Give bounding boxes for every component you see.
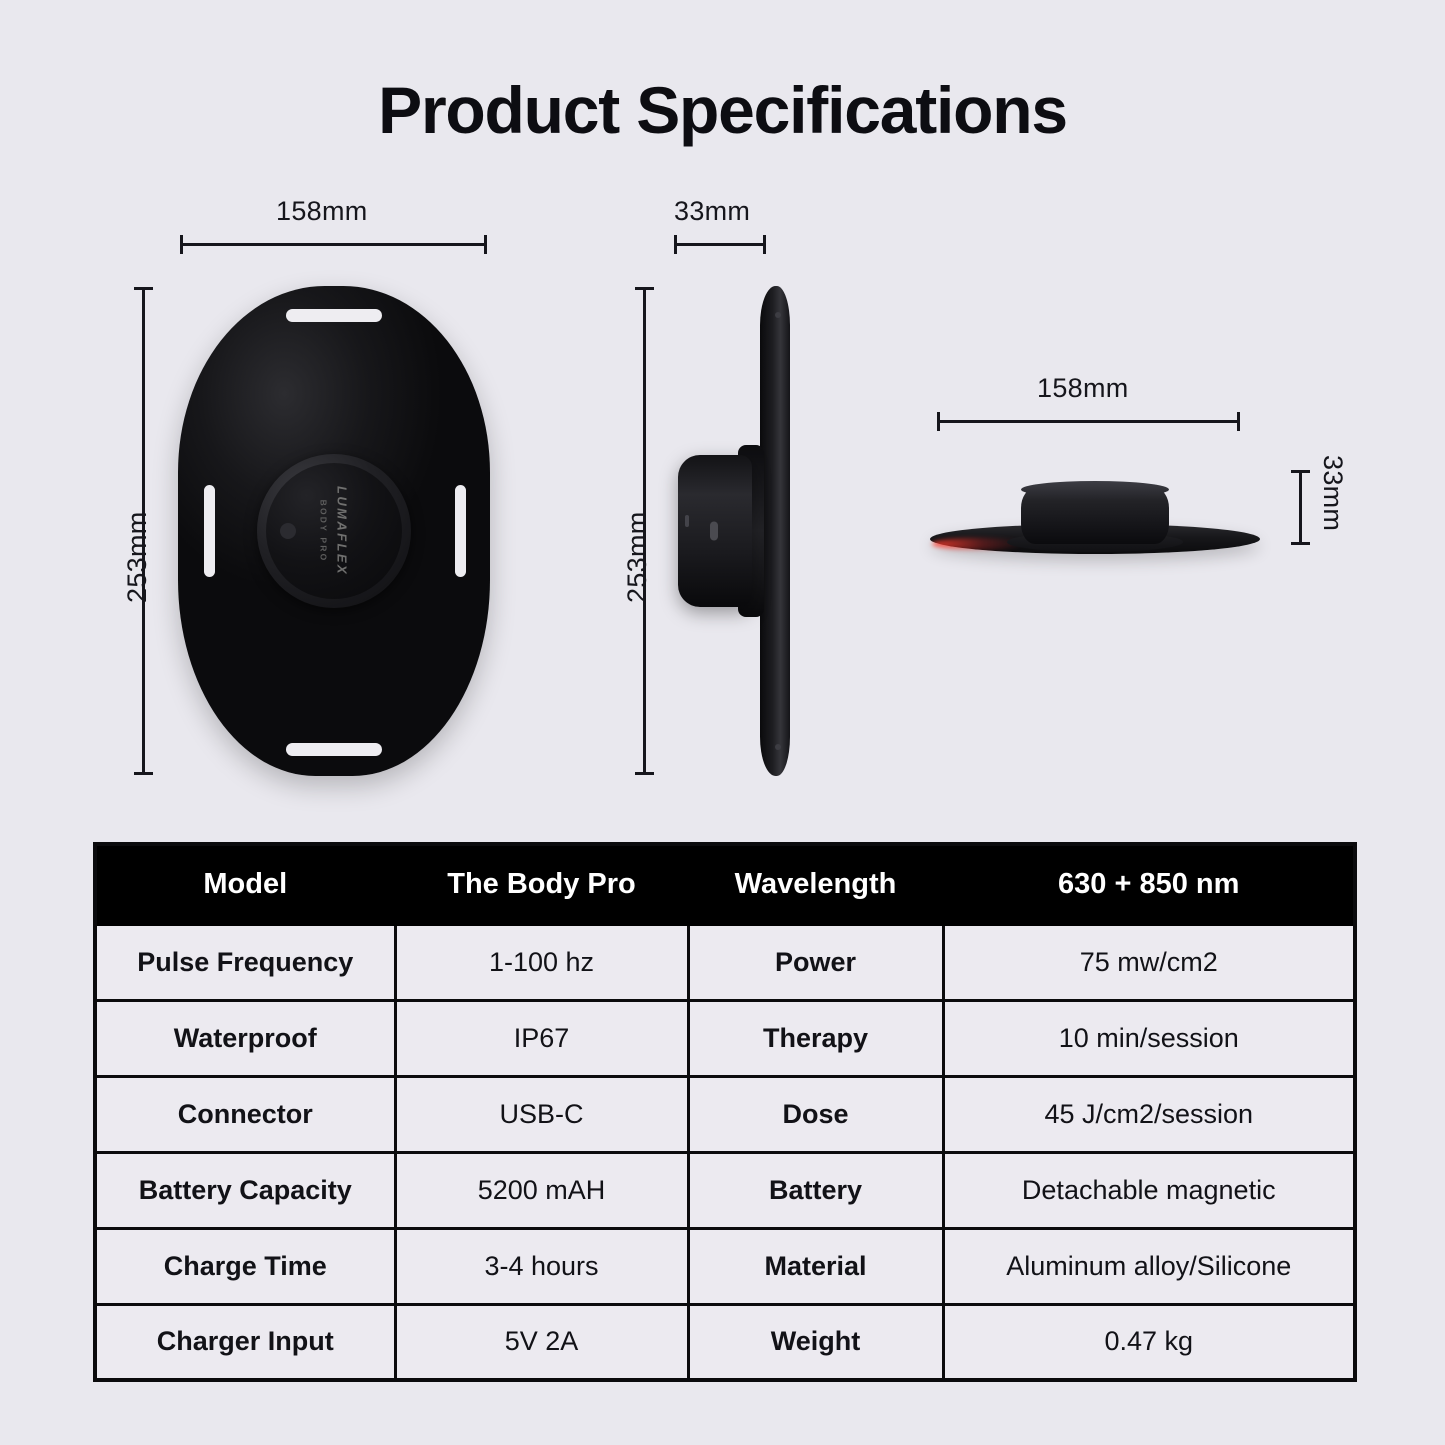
brand-model: BODY PRO: [319, 500, 329, 563]
header-cell-0: Model: [95, 844, 395, 924]
spec-value: 5200 mAH: [395, 1152, 688, 1228]
table-row: Connector USB-C Dose 45 J/cm2/session: [95, 1076, 1355, 1152]
strap-slot-bottom-icon: [286, 743, 382, 756]
table-row: Pulse Frequency 1-100 hz Power 75 mw/cm2: [95, 924, 1355, 1000]
module-top-face: [1021, 481, 1169, 498]
header-cell-1: The Body Pro: [395, 844, 688, 924]
indicator-led-icon: [280, 523, 296, 539]
table-row: Waterproof IP67 Therapy 10 min/session: [95, 1000, 1355, 1076]
spec-key: Battery Capacity: [95, 1152, 395, 1228]
specifications-table: Model The Body Pro Wavelength 630 + 850 …: [93, 842, 1357, 1382]
header-cell-3: 630 + 850 nm: [943, 844, 1355, 924]
front-view-height-label: 253mm: [122, 511, 153, 603]
header-cell-2: Wavelength: [688, 844, 943, 924]
front-view-width-label: 158mm: [276, 196, 368, 227]
spec-value: USB-C: [395, 1076, 688, 1152]
spec-key: Weight: [688, 1304, 943, 1380]
spec-key: Charge Time: [95, 1228, 395, 1304]
perspective-view-height-label: 33mm: [1317, 455, 1348, 531]
spec-value: 1-100 hz: [395, 924, 688, 1000]
perspective-view-product-image: [930, 452, 1260, 562]
light-module-ring: LUMAFLEX BODY PRO: [257, 454, 411, 608]
spec-key: Dose: [688, 1076, 943, 1152]
table-row: Charge Time 3-4 hours Material Aluminum …: [95, 1228, 1355, 1304]
spec-key: Therapy: [688, 1000, 943, 1076]
brand-name: LUMAFLEX: [335, 486, 350, 576]
side-view-width-label: 33mm: [674, 196, 750, 227]
strap-slot-top-icon: [286, 309, 382, 322]
side-view-product-image: [672, 286, 790, 776]
brand-logo: LUMAFLEX BODY PRO: [319, 486, 350, 576]
spec-value: 3-4 hours: [395, 1228, 688, 1304]
pad-screw-bottom-icon: [775, 744, 781, 750]
spec-key: Power: [688, 924, 943, 1000]
spec-value: 0.47 kg: [943, 1304, 1355, 1380]
strap-slot-right-icon: [455, 485, 466, 577]
spec-key: Material: [688, 1228, 943, 1304]
side-view-height-label: 253mm: [622, 511, 653, 603]
spec-key: Battery: [688, 1152, 943, 1228]
strap-slot-left-icon: [204, 485, 215, 577]
light-module-side: [678, 455, 752, 607]
spec-value: 5V 2A: [395, 1304, 688, 1380]
pad-edge-profile: [760, 286, 790, 776]
spec-value: 45 J/cm2/session: [943, 1076, 1355, 1152]
front-view-width-dimension-line: [180, 243, 487, 246]
table-header-row: Model The Body Pro Wavelength 630 + 850 …: [95, 844, 1355, 924]
spec-key: Connector: [95, 1076, 395, 1152]
spec-key: Charger Input: [95, 1304, 395, 1380]
perspective-view-width-label: 158mm: [1037, 373, 1129, 404]
side-view-height-dimension-line: [643, 287, 646, 775]
light-module-cylinder: [1021, 488, 1169, 544]
perspective-view-width-dimension-line: [937, 420, 1240, 423]
perspective-view-height-dimension-line: [1299, 470, 1302, 545]
page-title: Product Specifications: [0, 74, 1445, 147]
front-view-product-image: LUMAFLEX BODY PRO: [178, 286, 490, 776]
spec-value: Detachable magnetic: [943, 1152, 1355, 1228]
pad-screw-top-icon: [775, 312, 781, 318]
spec-key: Waterproof: [95, 1000, 395, 1076]
spec-value: Aluminum alloy/Silicone: [943, 1228, 1355, 1304]
side-view-width-dimension-line: [674, 243, 766, 246]
spec-value: IP67: [395, 1000, 688, 1076]
product-spec-page: Product Specifications 158mm 253mm LUMAF…: [0, 0, 1445, 1445]
light-module-face: LUMAFLEX BODY PRO: [266, 463, 402, 599]
power-button-icon: [685, 515, 689, 527]
spec-value: 10 min/session: [943, 1000, 1355, 1076]
table-row: Battery Capacity 5200 mAH Battery Detach…: [95, 1152, 1355, 1228]
front-view-height-dimension-line: [142, 287, 145, 775]
spec-key: Pulse Frequency: [95, 924, 395, 1000]
usb-c-port-icon: [710, 522, 718, 541]
table-row: Charger Input 5V 2A Weight 0.47 kg: [95, 1304, 1355, 1380]
spec-value: 75 mw/cm2: [943, 924, 1355, 1000]
